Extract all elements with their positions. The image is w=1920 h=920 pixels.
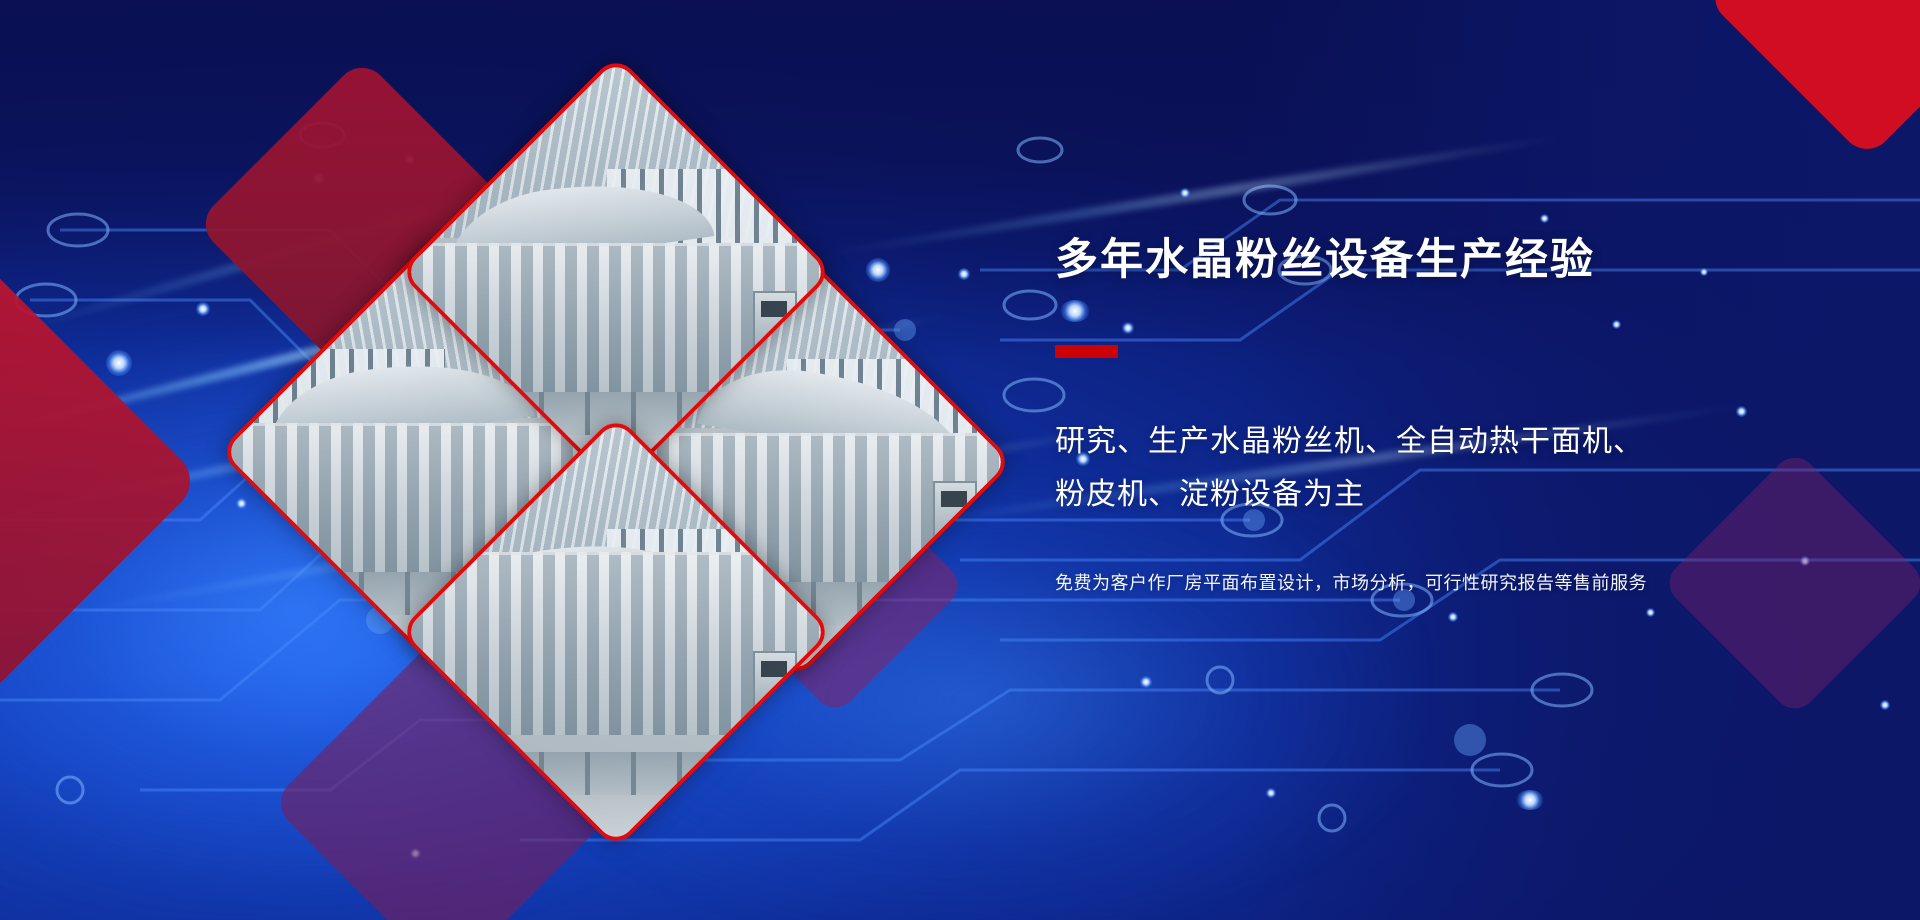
banner-subline: 研究、生产水晶粉丝机、全自动热干面机、 粉皮机、淀粉设备为主 bbox=[1055, 416, 1845, 521]
accent-bar bbox=[1055, 345, 1118, 358]
banner-headline: 多年水晶粉丝设备生产经验 bbox=[1055, 236, 1845, 285]
banner-caption: 免费为客户作厂房平面布置设计，市场分析，可行性研究报告等售前服务 bbox=[1055, 569, 1845, 595]
promo-banner: 多年水晶粉丝设备生产经验 研究、生产水晶粉丝机、全自动热干面机、 粉皮机、淀粉设… bbox=[0, 0, 1920, 920]
banner-subline-line1: 研究、生产水晶粉丝机、全自动热干面机、 bbox=[1055, 416, 1845, 469]
banner-subline-line2: 粉皮机、淀粉设备为主 bbox=[1055, 469, 1845, 522]
banner-text-block: 多年水晶粉丝设备生产经验 研究、生产水晶粉丝机、全自动热干面机、 粉皮机、淀粉设… bbox=[1055, 236, 1845, 595]
product-photo-cluster bbox=[300, 130, 920, 750]
